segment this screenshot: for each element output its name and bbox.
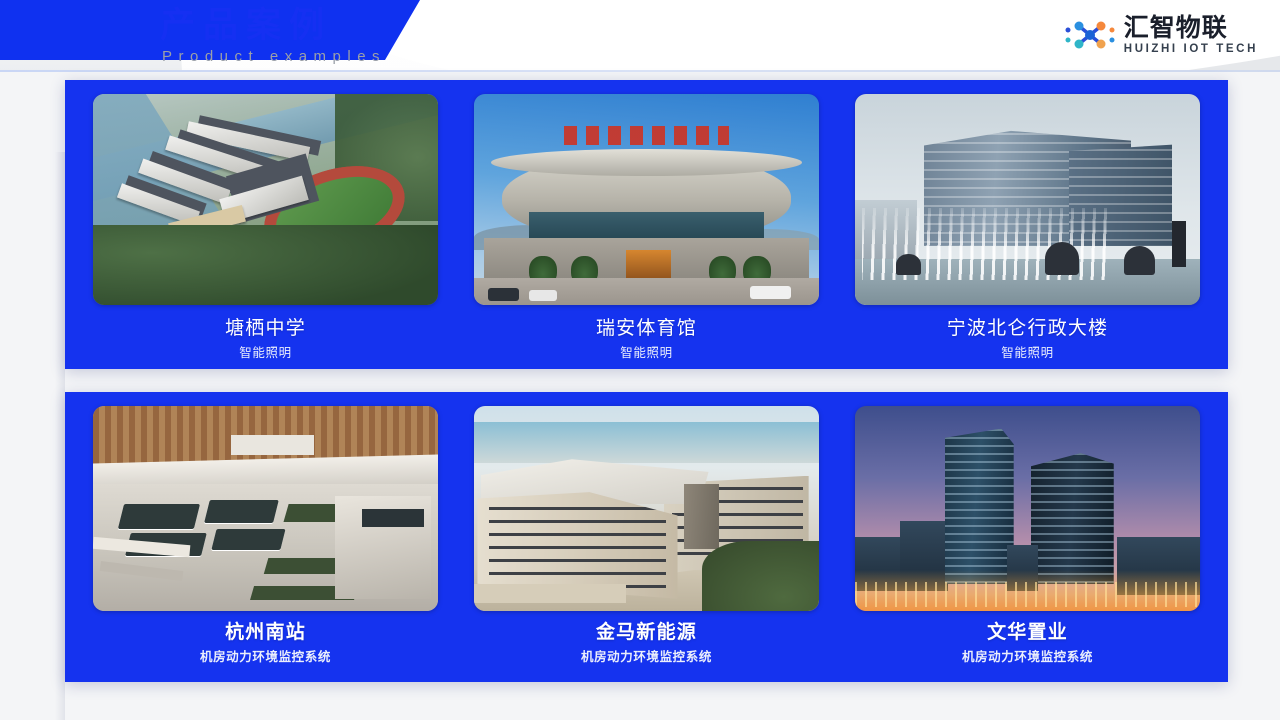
dusk-twin-office-towers-photo <box>855 406 1200 611</box>
case-card-list-row-1: 塘栖中学 智能照明 <box>65 80 1228 369</box>
round-stadium-building-photo <box>474 94 819 305</box>
case-subtitle: 智能照明 <box>1001 344 1053 362</box>
content-stage: 塘栖中学 智能照明 <box>0 72 1280 720</box>
case-title: 塘栖中学 <box>225 315 306 341</box>
brand-name-cn: 汇智物联 <box>1124 14 1258 41</box>
brand-logo-text: 汇智物联 HUIZHI IOT TECH <box>1124 14 1258 56</box>
brand-logo: 汇智物联 HUIZHI IOT TECH <box>1062 14 1258 56</box>
case-card[interactable]: 文华置业 机房动力环境监控系统 <box>855 406 1200 682</box>
case-subtitle: 智能照明 <box>239 344 291 362</box>
case-card-list-row-2: 杭州南站 机房动力环境监控系统 <box>65 392 1228 682</box>
case-title: 金马新能源 <box>596 619 697 645</box>
page-title-group: 产品案例 Product examples <box>160 4 386 66</box>
case-title: 文华置业 <box>987 619 1068 645</box>
page-header: 产品案例 Product examples 汇智物联 <box>0 0 1280 72</box>
case-card[interactable]: 金马新能源 机房动力环境监控系统 <box>474 406 819 682</box>
page-title: 产品案例 <box>160 4 386 48</box>
case-title: 杭州南站 <box>225 619 306 645</box>
case-card[interactable]: 杭州南站 机房动力环境监控系统 <box>93 406 438 682</box>
case-card[interactable]: 宁波北仑行政大楼 智能照明 <box>855 94 1200 369</box>
aerial-school-campus-photo <box>93 94 438 305</box>
brand-name-en: HUIZHI IOT TECH <box>1124 42 1258 56</box>
case-subtitle: 机房动力环境监控系统 <box>581 648 712 666</box>
molecule-network-icon <box>1062 15 1118 55</box>
case-title: 瑞安体育馆 <box>596 315 697 341</box>
case-panel-row-1: 塘栖中学 智能照明 <box>65 80 1228 369</box>
government-office-building-fountain-photo <box>855 94 1200 305</box>
case-subtitle: 机房动力环境监控系统 <box>200 648 331 666</box>
page-subtitle: Product examples <box>162 47 386 66</box>
case-title: 宁波北仑行政大楼 <box>947 315 1109 341</box>
case-subtitle: 机房动力环境监控系统 <box>962 648 1093 666</box>
case-subtitle: 智能照明 <box>620 344 672 362</box>
panel-left-shadow <box>55 152 65 720</box>
railway-station-model-photo <box>93 406 438 611</box>
industrial-factory-complex-photo <box>474 406 819 611</box>
case-panel-row-2: 杭州南站 机房动力环境监控系统 <box>65 392 1228 682</box>
case-card[interactable]: 塘栖中学 智能照明 <box>93 94 438 369</box>
case-card[interactable]: 瑞安体育馆 智能照明 <box>474 94 819 369</box>
